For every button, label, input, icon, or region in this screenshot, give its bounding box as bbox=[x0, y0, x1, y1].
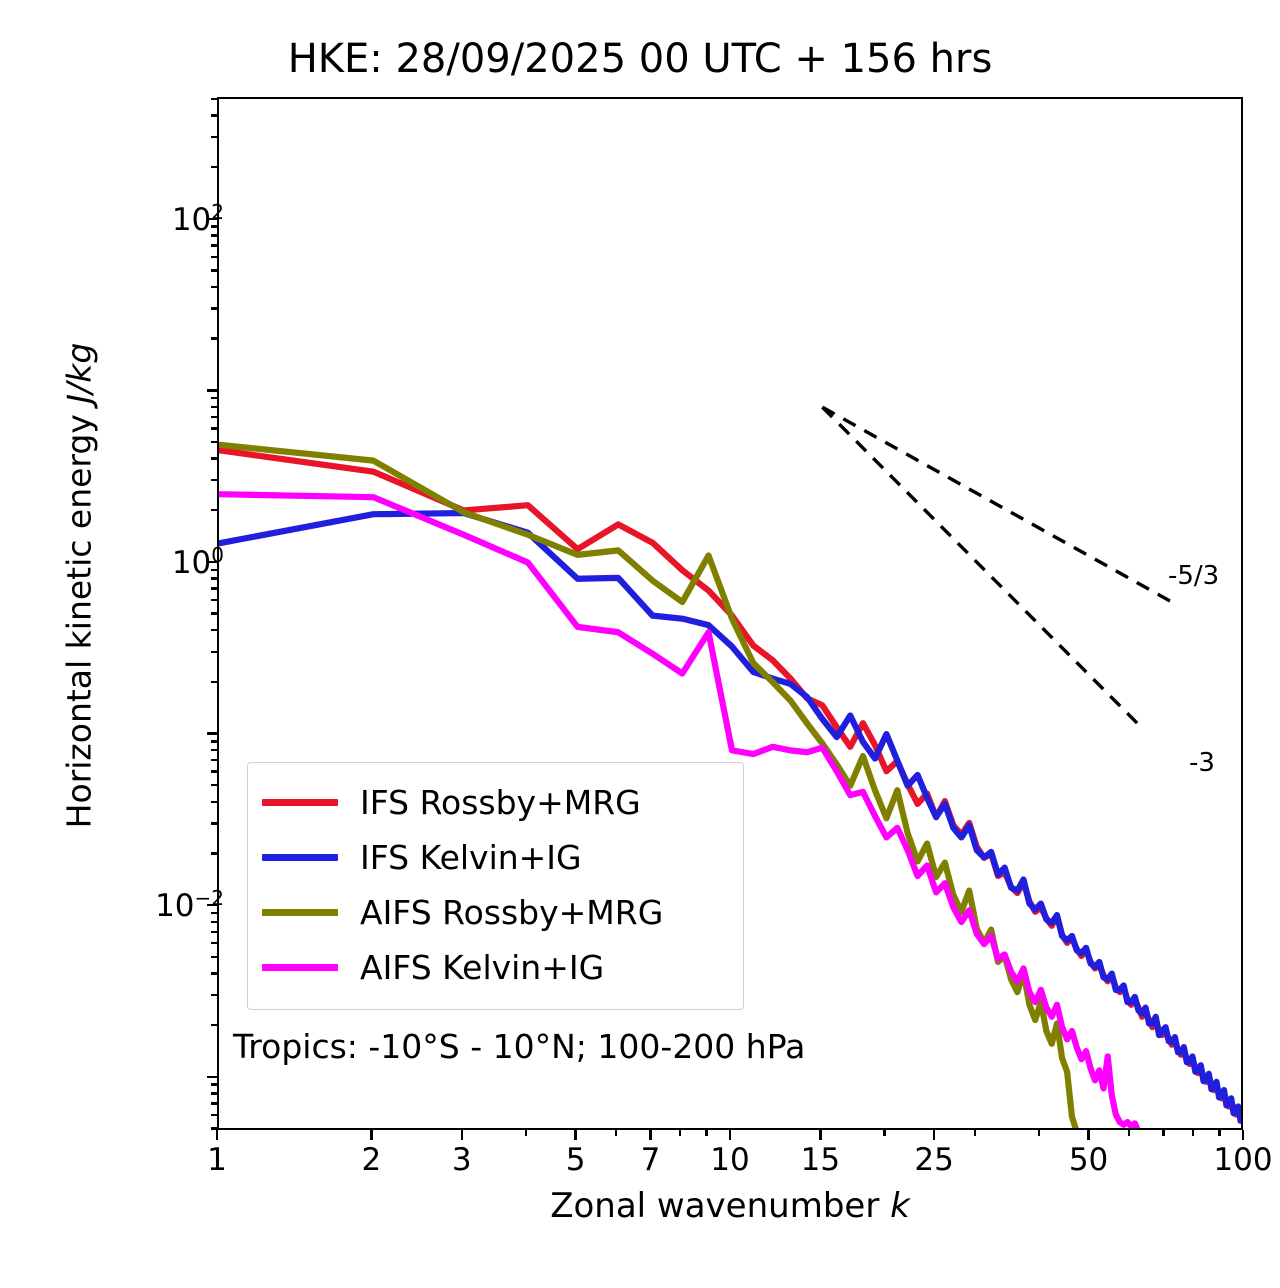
y-minor-tick-mark bbox=[211, 599, 217, 601]
y-minor-tick-mark bbox=[211, 416, 217, 418]
y-minor-tick-mark bbox=[211, 681, 217, 683]
y-minor-tick-mark bbox=[211, 629, 217, 631]
y-minor-tick-mark bbox=[211, 587, 217, 589]
y-minor-tick-mark bbox=[211, 307, 217, 309]
x-minor-tick-mark bbox=[1128, 1130, 1130, 1136]
legend-color-swatch bbox=[262, 854, 338, 861]
legend-item[interactable]: IFS Kelvin+IG bbox=[262, 830, 729, 885]
y-axis-label-units: J/kg bbox=[60, 343, 99, 404]
y-minor-tick-mark bbox=[211, 942, 217, 944]
chart-title: HKE: 28/09/2025 00 UTC + 156 hrs bbox=[0, 36, 1280, 82]
y-minor-tick-mark bbox=[211, 406, 217, 408]
y-minor-tick-mark bbox=[211, 1114, 217, 1116]
y-minor-tick-mark bbox=[211, 921, 217, 923]
x-tick-mark bbox=[216, 1130, 218, 1140]
y-minor-tick-mark bbox=[211, 749, 217, 751]
x-tick-mark bbox=[574, 1130, 576, 1140]
x-tick-mark bbox=[729, 1130, 731, 1140]
x-tick-label: 1 bbox=[207, 1142, 227, 1178]
legend-label: IFS Rossby+MRG bbox=[360, 786, 641, 819]
x-tick-label: 25 bbox=[914, 1142, 953, 1178]
legend-color-swatch bbox=[262, 964, 338, 971]
y-minor-tick-mark bbox=[211, 569, 217, 571]
y-minor-tick-mark bbox=[211, 1127, 217, 1129]
y-minor-tick-mark bbox=[211, 136, 217, 138]
y-minor-tick-mark bbox=[211, 98, 217, 100]
x-tick-label: 15 bbox=[801, 1142, 840, 1178]
x-tick-label: 100 bbox=[1213, 1142, 1272, 1178]
y-minor-tick-mark bbox=[211, 234, 217, 236]
x-minor-tick-mark bbox=[974, 1130, 976, 1136]
x-tick-mark bbox=[1087, 1130, 1089, 1140]
x-axis-label-symbol: k bbox=[890, 1186, 910, 1226]
x-tick-label: 10 bbox=[710, 1142, 749, 1178]
y-minor-tick-mark bbox=[211, 1092, 217, 1094]
y-minor-tick-mark bbox=[211, 931, 217, 933]
y-minor-tick-mark bbox=[211, 972, 217, 974]
x-tick-mark bbox=[933, 1130, 935, 1140]
y-tick-label: 100 bbox=[172, 543, 224, 581]
y-tick-mark bbox=[207, 732, 217, 734]
y-minor-tick-mark bbox=[211, 397, 217, 399]
x-tick-label: 5 bbox=[566, 1142, 586, 1178]
x-tick-mark bbox=[649, 1130, 651, 1140]
legend-color-swatch bbox=[262, 909, 338, 916]
y-minor-tick-mark bbox=[211, 256, 217, 258]
y-tick-mark bbox=[207, 1076, 217, 1078]
slope-reference-line bbox=[822, 407, 1175, 604]
y-minor-tick-mark bbox=[211, 509, 217, 511]
x-tick-label: 2 bbox=[362, 1142, 382, 1178]
y-minor-tick-mark bbox=[211, 114, 217, 116]
region-annotation: Tropics: -10°S - 10°N; 100-200 hPa bbox=[233, 1027, 805, 1066]
legend-color-swatch bbox=[262, 799, 338, 806]
x-tick-mark bbox=[1242, 1130, 1244, 1140]
x-tick-mark bbox=[370, 1130, 372, 1140]
y-minor-tick-mark bbox=[211, 1102, 217, 1104]
slope-reference-line bbox=[822, 407, 1138, 724]
y-minor-tick-mark bbox=[211, 759, 217, 761]
x-minor-tick-mark bbox=[1162, 1130, 1164, 1136]
y-minor-tick-mark bbox=[211, 225, 217, 227]
slope-label: -5/3 bbox=[1168, 561, 1219, 591]
x-minor-tick-mark bbox=[883, 1130, 885, 1136]
y-tick-label: 102 bbox=[172, 200, 224, 238]
legend: IFS Rossby+MRGIFS Kelvin+IGAIFS Rossby+M… bbox=[247, 762, 744, 1010]
x-tick-label: 50 bbox=[1069, 1142, 1108, 1178]
y-minor-tick-mark bbox=[211, 1083, 217, 1085]
x-minor-tick-mark bbox=[1038, 1130, 1040, 1136]
y-minor-tick-mark bbox=[211, 822, 217, 824]
y-minor-tick-mark bbox=[211, 651, 217, 653]
y-minor-tick-mark bbox=[211, 740, 217, 742]
y-minor-tick-mark bbox=[211, 1024, 217, 1026]
legend-label: AIFS Rossby+MRG bbox=[360, 896, 663, 929]
y-minor-tick-mark bbox=[211, 770, 217, 772]
legend-item[interactable]: IFS Rossby+MRG bbox=[262, 775, 729, 830]
y-axis-label-main: Horizontal kinetic energy bbox=[60, 404, 99, 829]
legend-item[interactable]: AIFS Kelvin+IG bbox=[262, 940, 729, 995]
y-minor-tick-mark bbox=[211, 912, 217, 914]
y-minor-tick-mark bbox=[211, 286, 217, 288]
x-tick-label: 3 bbox=[452, 1142, 472, 1178]
y-minor-tick-mark bbox=[211, 441, 217, 443]
y-minor-tick-mark bbox=[211, 337, 217, 339]
y-minor-tick-mark bbox=[211, 244, 217, 246]
y-minor-tick-mark bbox=[211, 852, 217, 854]
chart-page: HKE: 28/09/2025 00 UTC + 156 hrs Horizon… bbox=[0, 0, 1280, 1288]
y-minor-tick-mark bbox=[211, 994, 217, 996]
legend-label: AIFS Kelvin+IG bbox=[360, 951, 604, 984]
y-tick-mark bbox=[207, 389, 217, 391]
legend-item[interactable]: AIFS Rossby+MRG bbox=[262, 885, 729, 940]
y-minor-tick-mark bbox=[211, 612, 217, 614]
y-minor-tick-mark bbox=[211, 784, 217, 786]
x-minor-tick-mark bbox=[679, 1130, 681, 1136]
x-minor-tick-mark bbox=[1218, 1130, 1220, 1136]
y-minor-tick-mark bbox=[211, 269, 217, 271]
slope-label: -3 bbox=[1189, 748, 1215, 778]
x-tick-mark bbox=[461, 1130, 463, 1140]
x-minor-tick-mark bbox=[1192, 1130, 1194, 1136]
y-minor-tick-mark bbox=[211, 577, 217, 579]
y-tick-label: 10−2 bbox=[155, 886, 224, 924]
x-minor-tick-mark bbox=[615, 1130, 617, 1136]
y-minor-tick-mark bbox=[211, 457, 217, 459]
y-minor-tick-mark bbox=[211, 166, 217, 168]
y-minor-tick-mark bbox=[211, 479, 217, 481]
y-axis-label: Horizontal kinetic energy J/kg bbox=[60, 226, 99, 946]
x-tick-label: 7 bbox=[641, 1142, 661, 1178]
y-minor-tick-mark bbox=[211, 427, 217, 429]
x-minor-tick-mark bbox=[525, 1130, 527, 1136]
x-tick-mark bbox=[819, 1130, 821, 1140]
x-axis-label: Zonal wavenumber k bbox=[217, 1186, 1243, 1226]
x-axis-label-main: Zonal wavenumber bbox=[550, 1186, 890, 1226]
y-minor-tick-mark bbox=[211, 956, 217, 958]
y-minor-tick-mark bbox=[211, 801, 217, 803]
legend-label: IFS Kelvin+IG bbox=[360, 841, 582, 874]
x-minor-tick-mark bbox=[705, 1130, 707, 1136]
